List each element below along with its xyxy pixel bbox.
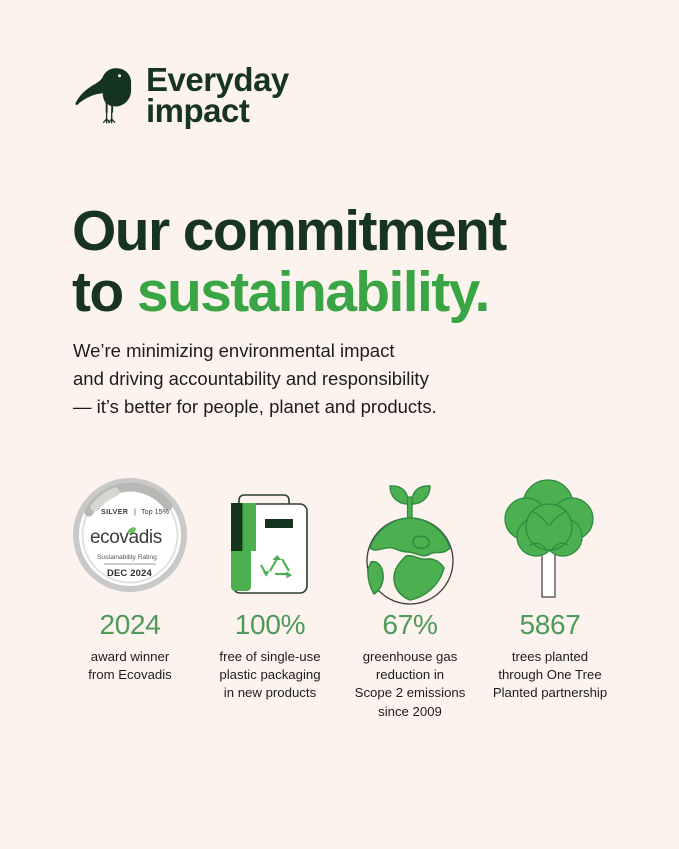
caption-line: Planted partnership bbox=[493, 684, 607, 702]
headline-line2-accent: sustainability. bbox=[137, 260, 489, 324]
stat-caption: trees planted through One Tree Planted p… bbox=[493, 648, 607, 703]
headline-line1: Our commitment bbox=[72, 199, 506, 263]
badge-separator: | bbox=[134, 507, 136, 516]
caption-line: greenhouse gas bbox=[355, 648, 466, 666]
caption-line: since 2009 bbox=[355, 703, 466, 721]
caption-line: plastic packaging bbox=[219, 666, 320, 684]
badge-brand: ecovadis bbox=[90, 527, 162, 548]
intro-paragraph: We’re minimizing environmental impact an… bbox=[73, 337, 593, 421]
headline-line2-prefix: to bbox=[72, 260, 137, 324]
brand-logo: Everyday impact bbox=[74, 62, 289, 128]
stat-icon-wrap bbox=[496, 462, 604, 607]
stat-caption: award winner from Ecovadis bbox=[88, 648, 172, 684]
stat-ecovadis: SILVER | Top 15% ecovadis Sustainability… bbox=[60, 462, 200, 684]
brand-name-line2: impact bbox=[146, 95, 289, 126]
ecovadis-badge-icon: SILVER | Top 15% ecovadis Sustainability… bbox=[71, 476, 189, 594]
stat-value: 5867 bbox=[519, 609, 580, 641]
caption-line: free of single-use bbox=[219, 648, 320, 666]
intro-line-3: — it’s better for people, planet and pro… bbox=[73, 393, 593, 421]
bird-icon bbox=[74, 62, 132, 128]
globe-sprout-icon bbox=[350, 464, 470, 606]
stat-value: 100% bbox=[235, 609, 305, 641]
stat-value: 2024 bbox=[99, 609, 160, 641]
brand-wordmark: Everyday impact bbox=[146, 64, 289, 127]
caption-line: reduction in bbox=[355, 666, 466, 684]
stat-value: 67% bbox=[382, 609, 437, 641]
stat-icon-wrap: SILVER | Top 15% ecovadis Sustainability… bbox=[71, 462, 189, 607]
caption-line: trees planted bbox=[493, 648, 607, 666]
stat-icon-wrap bbox=[350, 462, 470, 607]
page-title: Our commitment to sustainability. bbox=[72, 201, 632, 322]
caption-line: Scope 2 emissions bbox=[355, 684, 466, 702]
tree-icon bbox=[496, 467, 604, 602]
caption-line: award winner bbox=[88, 648, 172, 666]
intro-line-2: and driving accountability and responsib… bbox=[73, 365, 593, 393]
recyclable-packaging-icon bbox=[218, 471, 323, 599]
badge-rank: Top 15% bbox=[141, 507, 170, 516]
stat-caption: greenhouse gas reduction in Scope 2 emis… bbox=[355, 648, 466, 721]
badge-subtitle: Sustainability Rating bbox=[97, 554, 157, 561]
badge-level: SILVER bbox=[101, 507, 129, 516]
stat-icon-wrap bbox=[218, 462, 323, 607]
stat-trees: 5867 trees planted through One Tree Plan… bbox=[480, 462, 620, 703]
caption-line: from Ecovadis bbox=[88, 666, 172, 684]
intro-line-1: We’re minimizing environmental impact bbox=[73, 337, 593, 365]
caption-line: in new products bbox=[219, 684, 320, 702]
badge-date: DEC 2024 bbox=[107, 567, 152, 578]
stat-emissions: 67% greenhouse gas reduction in Scope 2 … bbox=[340, 462, 480, 721]
stat-packaging: 100% free of single-use plastic packagin… bbox=[200, 462, 340, 703]
stats-row: SILVER | Top 15% ecovadis Sustainability… bbox=[60, 462, 620, 721]
stat-caption: free of single-use plastic packaging in … bbox=[219, 648, 320, 703]
sustainability-infographic: Everyday impact Our commitment to sustai… bbox=[0, 0, 679, 849]
caption-line: through One Tree bbox=[493, 666, 607, 684]
